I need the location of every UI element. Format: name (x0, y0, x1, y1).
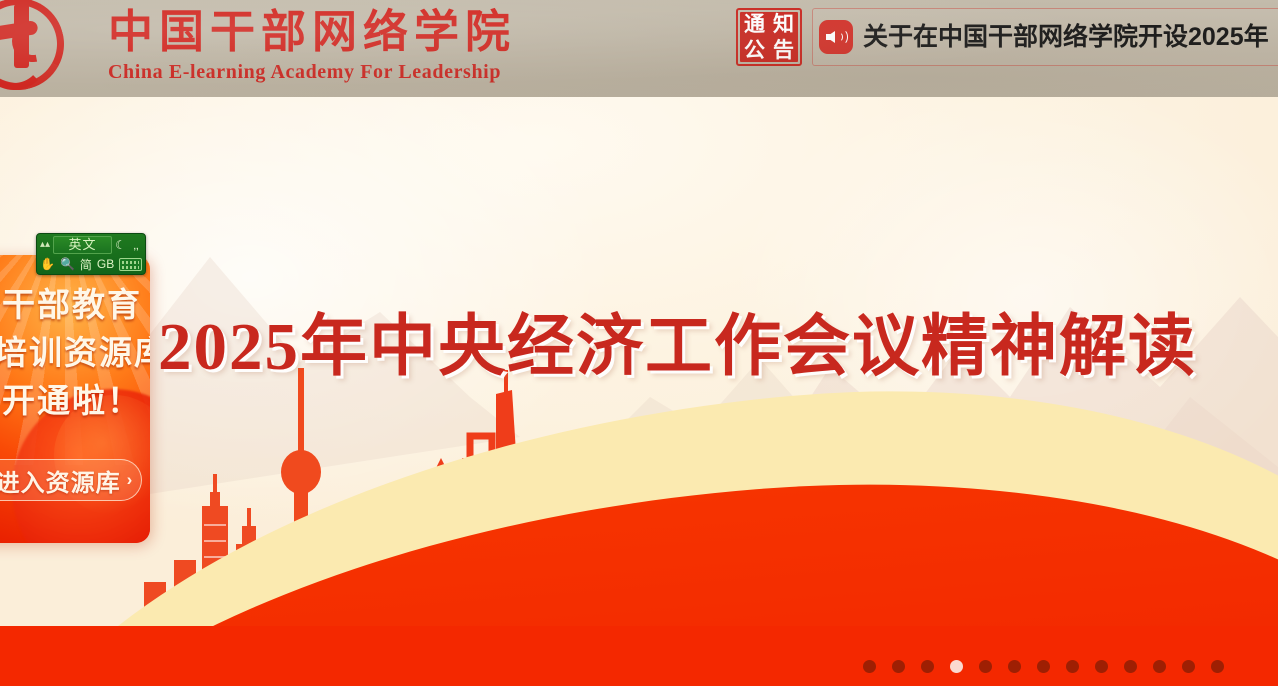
magnifier-icon[interactable]: 🔍 (60, 257, 75, 271)
banner-title: 2025年中央经济工作会议精神解读 (158, 292, 1197, 389)
hero-banner-carousel[interactable]: 2025年中央经济工作会议精神解读 干部教育 培训资源库 开通啦！ 进入资源库 … (0, 97, 1278, 686)
notice-text[interactable]: 关于在中国干部网络学院开设2025年 (863, 8, 1269, 66)
promo-button-label: 进入资源库 (0, 463, 121, 498)
moon-icon[interactable]: ☾ (114, 236, 127, 253)
red-base-band (0, 626, 1278, 686)
punctuation-icon[interactable]: ‚‚ (129, 236, 143, 253)
ime-toolbar-bottom-row: ✋ 🔍 简 GB (37, 255, 145, 275)
ime-charset-toggle[interactable]: GB (97, 257, 114, 271)
carousel-dot-9[interactable] (1095, 660, 1108, 673)
promo-line-3: 开通啦！ (0, 377, 150, 425)
notice-seal-stamp: 通 知 公 告 (736, 8, 802, 66)
seal-char-3: 公 (740, 37, 769, 63)
carousel-pagination[interactable] (863, 660, 1224, 673)
site-title-cn: 中国干部网络学院 (108, 6, 516, 58)
carousel-dot-12[interactable] (1182, 660, 1195, 673)
carousel-dot-5[interactable] (979, 660, 992, 673)
carousel-dot-7[interactable] (1037, 660, 1050, 673)
enter-resource-library-button[interactable]: 进入资源库 › (0, 459, 142, 501)
logo-stroke-bowl (0, 56, 48, 90)
ime-toolbar-top-row: ▴▴ 英文 ☾ ‚‚ (37, 234, 145, 255)
hand-icon[interactable]: ✋ (40, 257, 55, 271)
carousel-dot-2[interactable] (892, 660, 905, 673)
site-logo-text[interactable]: 中国干部网络学院 China E-learning Academy For Le… (108, 6, 516, 84)
carousel-dot-11[interactable] (1153, 660, 1166, 673)
speaker-icon (819, 20, 853, 54)
promo-headline: 干部教育 培训资源库 开通啦！ (0, 281, 150, 425)
ime-simplified-toggle[interactable]: 简 (80, 256, 92, 273)
site-header: 中国干部网络学院 China E-learning Academy For Le… (0, 0, 1278, 97)
ime-language-button[interactable]: 英文 (53, 236, 112, 254)
carousel-dot-13[interactable] (1211, 660, 1224, 673)
carousel-dot-3[interactable] (921, 660, 934, 673)
carousel-dot-10[interactable] (1124, 660, 1137, 673)
carousel-dot-1[interactable] (863, 660, 876, 673)
carousel-dot-4[interactable] (950, 660, 963, 673)
promo-line-2: 培训资源库 (0, 329, 150, 377)
seal-char-4: 告 (769, 37, 798, 63)
chevron-up-icon[interactable]: ▴▴ (39, 236, 51, 253)
soft-keyboard-icon[interactable] (119, 258, 142, 271)
page-root: 中国干部网络学院 China E-learning Academy For Le… (0, 0, 1278, 686)
seal-char-1: 通 (740, 11, 769, 37)
notice-marquee[interactable]: 关于在中国干部网络学院开设2025年 (812, 8, 1278, 66)
site-title-en: China E-learning Academy For Leadership (108, 60, 516, 84)
carousel-dot-8[interactable] (1066, 660, 1079, 673)
seal-char-2: 知 (769, 11, 798, 37)
chevron-right-icon: › (127, 470, 133, 490)
carousel-dot-6[interactable] (1008, 660, 1021, 673)
promo-card-resource-library[interactable]: 干部教育 培训资源库 开通啦！ 进入资源库 › (0, 255, 150, 543)
ime-language-bar[interactable]: ▴▴ 英文 ☾ ‚‚ ✋ 🔍 简 GB (36, 233, 146, 275)
promo-line-1: 干部教育 (0, 281, 150, 329)
zhong-character-logo-icon[interactable] (0, 0, 76, 97)
